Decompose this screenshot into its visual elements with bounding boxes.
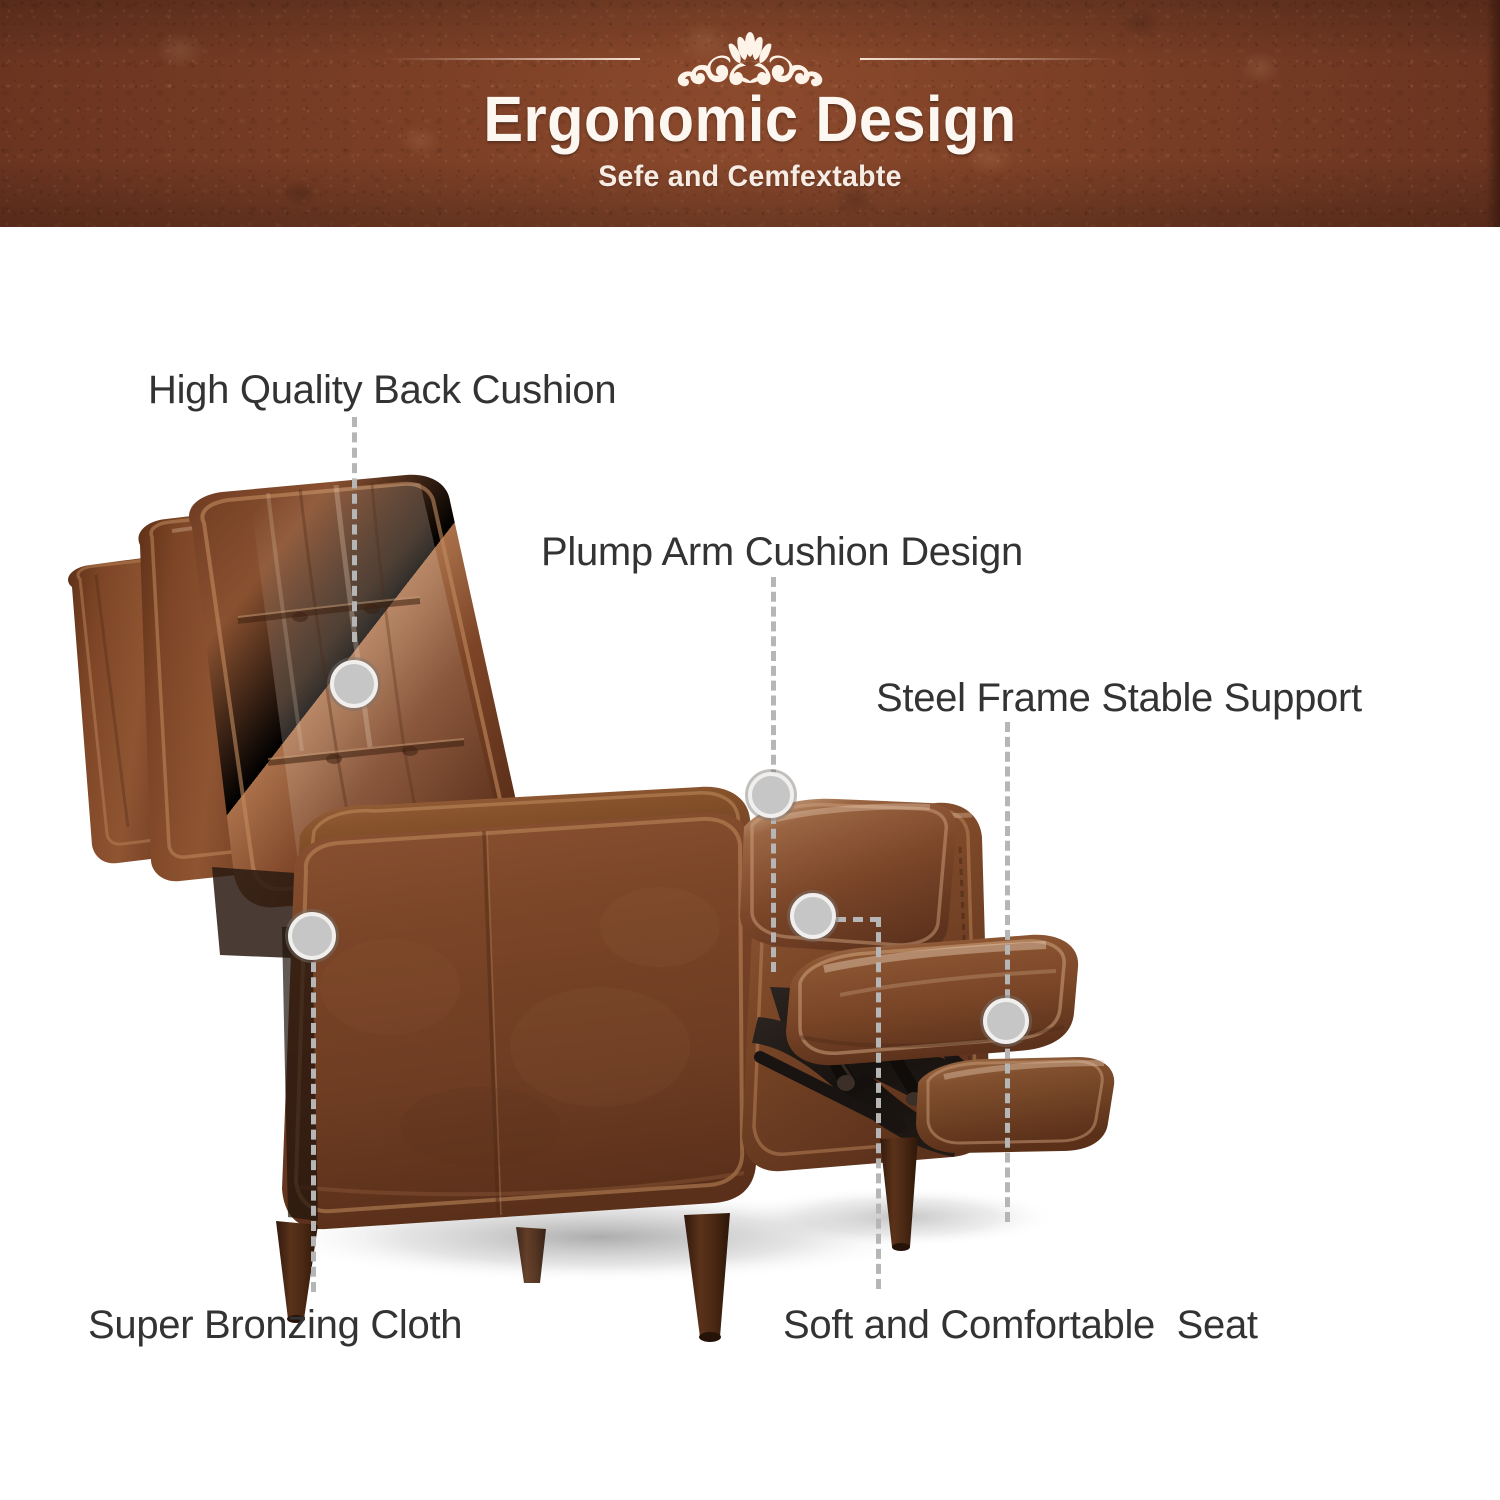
decorative-flourish-icon (640, 28, 860, 90)
ornament-divider (0, 28, 1500, 90)
connector-back-cushion (352, 417, 357, 642)
chair-footrest-lower (916, 1057, 1114, 1153)
callout-marker-bronzing-cloth[interactable] (288, 912, 336, 960)
callout-marker-arm-cushion[interactable] (748, 772, 794, 818)
product-illustration-stage: High Quality Back Cushion Plump Arm Cush… (0, 227, 1500, 1500)
divider-rule-left (384, 58, 640, 60)
callout-label-bronzing-cloth: Super Bronzing Cloth (88, 1303, 462, 1348)
callout-label-back-cushion: High Quality Back Cushion (148, 368, 616, 413)
connector-bronzing-cloth (311, 962, 316, 1292)
chair-arm-side-panel (282, 813, 756, 1229)
callout-marker-back-cushion[interactable] (330, 660, 378, 708)
callout-marker-comfort-seat[interactable] (790, 893, 836, 939)
callout-label-steel-frame: Steel Frame Stable Support (876, 676, 1362, 721)
callout-label-arm-cushion: Plump Arm Cushion Design (541, 530, 1023, 575)
callout-label-comfort-seat: Soft and Comfortable Seat (783, 1303, 1258, 1348)
page-subtitle: Sefe and Cemfextabte (38, 160, 1463, 194)
callout-marker-steel-frame[interactable] (983, 998, 1029, 1044)
connector-comfort-seat-horizontal (836, 917, 880, 922)
connector-steel-frame (1005, 722, 1010, 1222)
connector-comfort-seat-vertical (876, 917, 881, 1289)
page-title: Ergonomic Design (53, 82, 1448, 156)
header-banner: Ergonomic Design Sefe and Cemfextabte (0, 0, 1500, 227)
divider-rule-right (860, 58, 1116, 60)
chair-footrest-upper (786, 935, 1078, 1065)
